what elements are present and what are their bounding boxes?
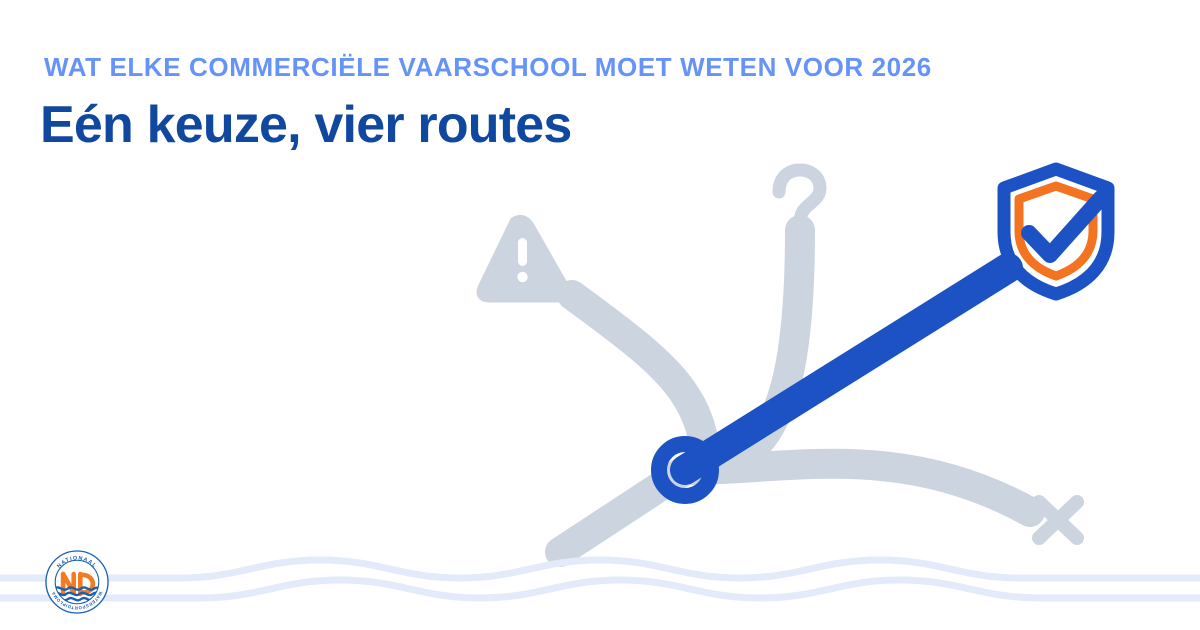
inactive-routes — [560, 230, 1030, 552]
junction-node — [659, 444, 711, 496]
warning-triangle-icon — [482, 220, 565, 297]
route-deadend-path — [560, 470, 685, 552]
eyebrow-text: WAT ELKE COMMERCIËLE VAARSCHOOL MOET WET… — [44, 54, 932, 80]
route-question-path — [685, 230, 800, 470]
wave-line-bottom — [0, 580, 1200, 598]
route-cross-path — [685, 464, 1030, 512]
wave-decoration — [0, 548, 1200, 630]
cross-icon — [1039, 502, 1077, 538]
route-warning-path — [572, 295, 706, 470]
shield-check-icon — [1004, 169, 1108, 294]
nationaal-watersportdiploma-logo: NATIONAAL WATERSPORTDIPLOMA — [44, 549, 110, 615]
route-choice-illustration — [0, 0, 1200, 630]
question-mark-icon — [779, 170, 820, 250]
hero-banner: NATIONAAL WATERSPORTDIPLOMA WAT ELKE COM… — [0, 0, 1200, 630]
wave-line-top — [0, 560, 1200, 578]
route-approved-path — [685, 268, 1008, 470]
page-title: Eén keuze, vier routes — [40, 96, 572, 156]
